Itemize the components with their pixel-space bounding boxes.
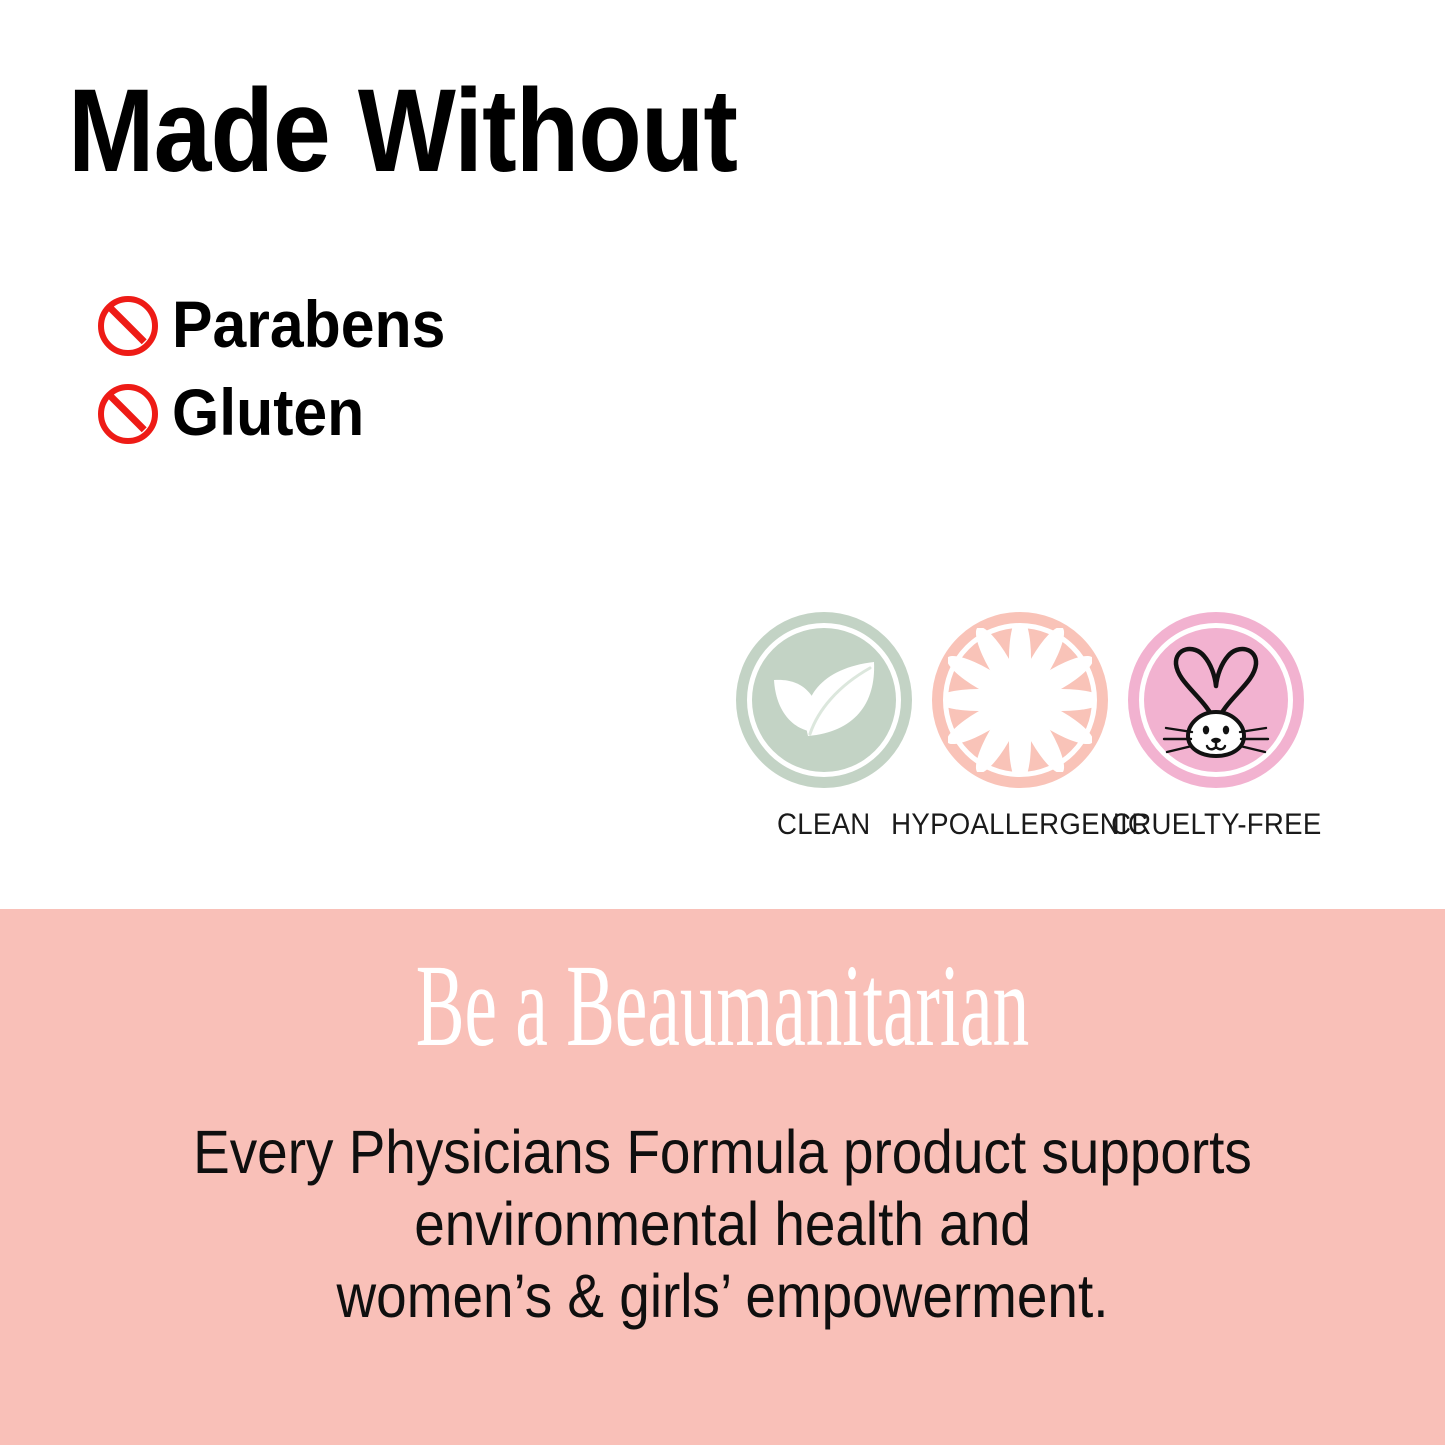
- badge-hypoallergenic: HYPOALLERGENIC: [922, 612, 1118, 840]
- made-without-section: Made Without Parabens Gluten: [0, 0, 1445, 909]
- banner-body-line-1: Every Physicians Formula product support…: [72, 1117, 1373, 1189]
- product-claims-panel: Made Without Parabens Gluten: [0, 0, 1445, 1445]
- badge-label-hypoallergenic: HYPOALLERGENIC: [892, 810, 1149, 840]
- flower-icon: [948, 628, 1092, 772]
- badge-clean-circle: [736, 612, 912, 788]
- prohibition-icon: [96, 382, 156, 442]
- list-item: Gluten: [96, 370, 469, 454]
- prohibition-icon: [96, 294, 156, 354]
- exclusion-label-gluten: Gluten: [172, 379, 364, 445]
- certification-badges: CLEAN: [726, 612, 1386, 840]
- badge-label-clean: CLEAN: [777, 810, 870, 840]
- badge-cruelty-free-circle: [1128, 612, 1304, 788]
- exclusion-list: Parabens Gluten: [96, 282, 469, 458]
- page-title: Made Without: [68, 72, 737, 190]
- banner-body: Every Physicians Formula product support…: [72, 1117, 1373, 1333]
- leaves-icon: [752, 628, 896, 772]
- badge-label-cruelty-free: CRUELTY-FREE: [1111, 810, 1321, 840]
- beaumanitarian-banner: Be a Beaumanitarian Every Physicians For…: [0, 909, 1445, 1445]
- banner-body-line-2: environmental health and: [72, 1189, 1373, 1261]
- banner-title: Be a Beaumanitarian: [275, 947, 1171, 1065]
- exclusion-label-parabens: Parabens: [172, 291, 445, 357]
- badge-cruelty-free: CRUELTY-FREE: [1118, 612, 1314, 840]
- banner-body-line-3: women’s & girls’ empowerment.: [72, 1261, 1373, 1333]
- bunny-heart-icon: [1144, 628, 1288, 772]
- badge-clean: CLEAN: [726, 612, 922, 840]
- list-item: Parabens: [96, 282, 469, 366]
- badge-hypoallergenic-circle: [932, 612, 1108, 788]
